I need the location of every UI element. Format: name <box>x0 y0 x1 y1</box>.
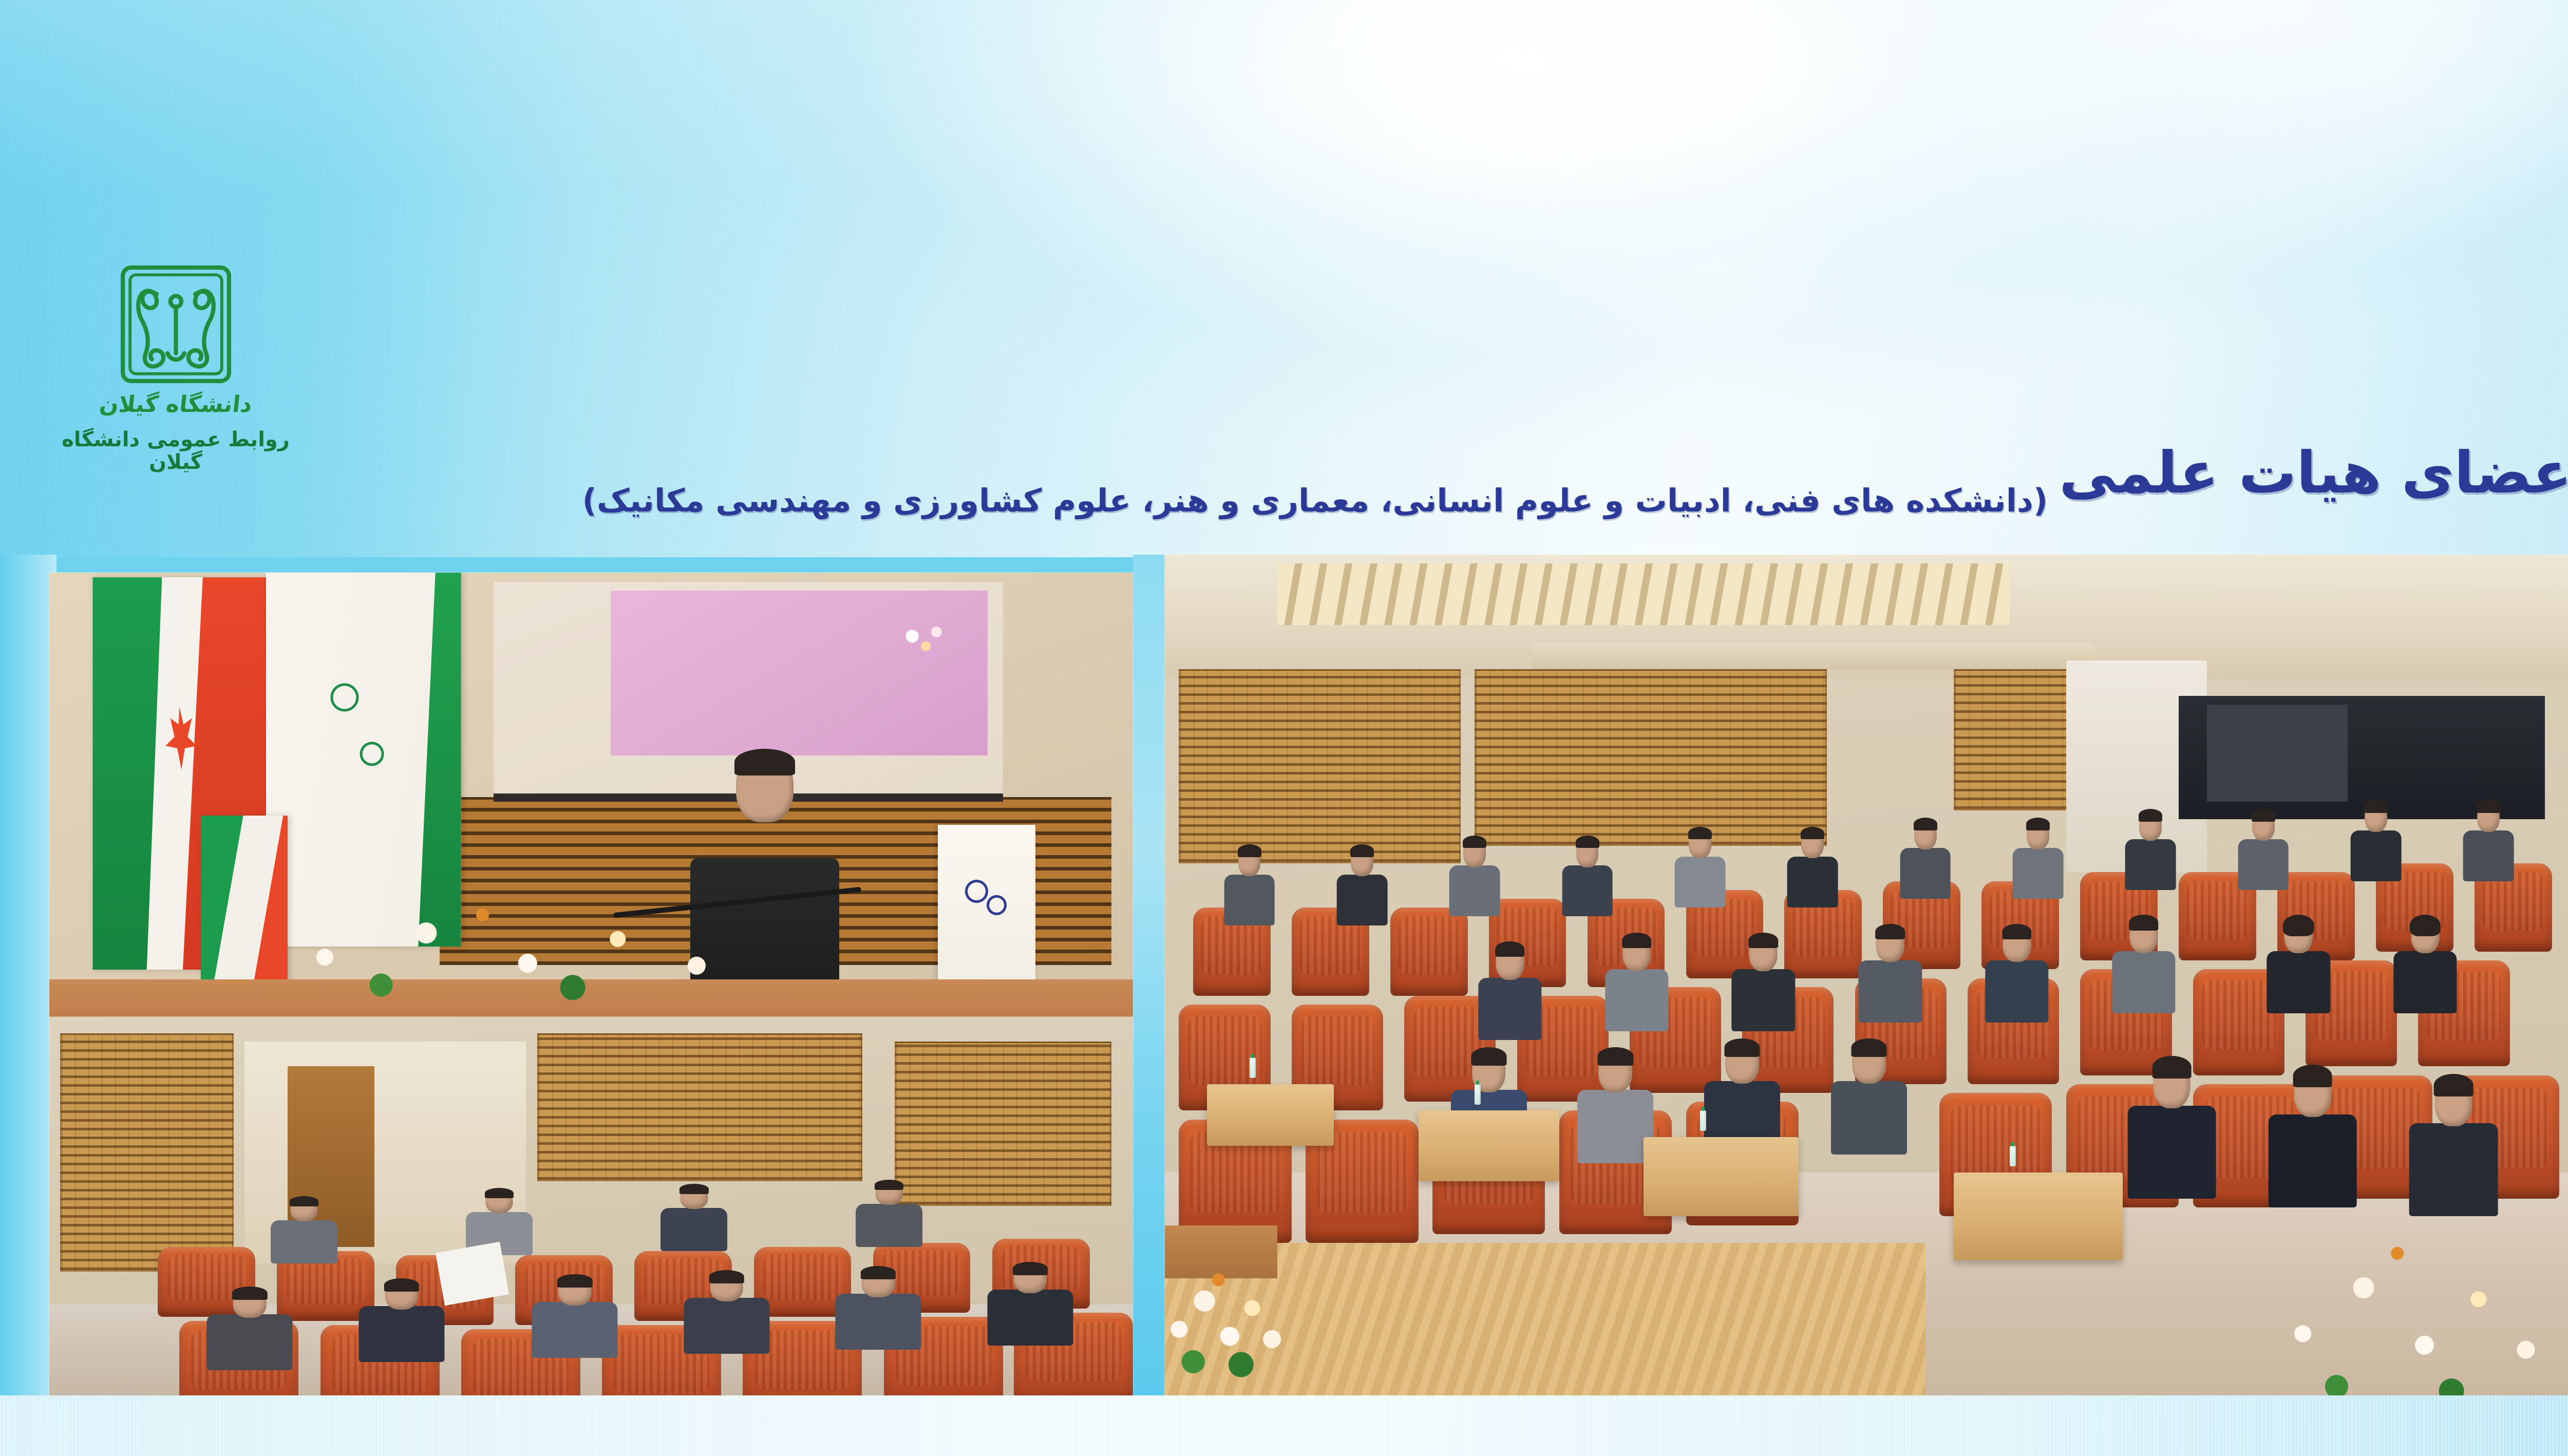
page-subtitle: (دانشکده های فنی، ادبیات و علوم انسانی، … <box>582 485 2048 522</box>
footer-texture <box>0 1395 2568 1456</box>
photo-hall-center: Wide view of the conference hall and fac… <box>1165 555 2568 1437</box>
footer-background <box>0 1395 2568 1456</box>
gilan-university-emblem-icon <box>116 262 236 390</box>
public-relations-label: روابط عمومی دانشگاه گیلان <box>42 428 309 474</box>
photo-speaker: Speaker at head table with Iranian flag … <box>49 573 1133 1040</box>
poster-title-row: نشست هم اندیشی رئیس دانشگاه با اعضای هیا… <box>582 424 2568 522</box>
poster-root: دانشگاه گیلان روابط عمومی دانشگاه گیلان … <box>0 0 2568 1456</box>
logo-wordmark: دانشگاه گیلان <box>41 393 311 416</box>
university-logo-block: دانشگاه گیلان روابط عمومی دانشگاه گیلان <box>42 262 309 474</box>
photo-grid: Speaker at head table with Iranian flag … <box>0 555 2568 1397</box>
page-title: نشست هم اندیشی رئیس دانشگاه با اعضای هیا… <box>2059 444 2568 502</box>
photo-audience-left: Hall view with seated attendees <box>49 1017 1133 1428</box>
flower-bouquet <box>212 891 776 1012</box>
